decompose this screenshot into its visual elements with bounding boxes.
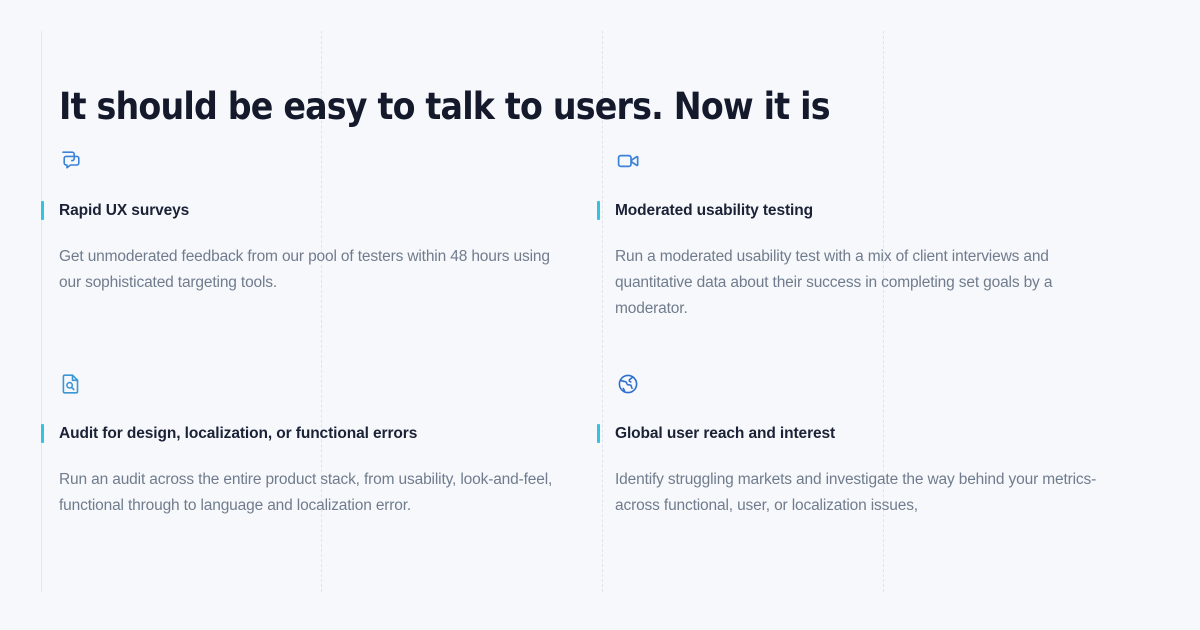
globe-icon <box>615 371 1200 397</box>
video-camera-icon <box>615 148 1200 174</box>
accent-bar <box>41 424 44 443</box>
card-description: Get unmoderated feedback from our pool o… <box>41 244 567 296</box>
card-description: Run an audit across the entire product s… <box>41 467 567 519</box>
feature-card-global-reach[interactable]: Global user reach and interest Identify … <box>597 371 1200 519</box>
card-title-row: Audit for design, localization, or funct… <box>41 423 567 444</box>
feature-card-audit[interactable]: Audit for design, localization, or funct… <box>41 371 567 519</box>
accent-bar <box>597 201 600 220</box>
card-title-row: Global user reach and interest <box>597 423 1200 444</box>
feature-grid: Rapid UX surveys Get unmoderated feedbac… <box>0 148 1200 519</box>
chat-bubbles-icon <box>59 148 567 174</box>
feature-row-2: Audit for design, localization, or funct… <box>0 371 1200 519</box>
card-description: Identify struggling markets and investig… <box>597 467 1115 519</box>
file-search-icon <box>59 371 567 397</box>
card-title: Rapid UX surveys <box>59 200 567 221</box>
card-title-row: Moderated usability testing <box>597 200 1200 221</box>
feature-cell-2: Moderated usability testing Run a modera… <box>597 148 1200 322</box>
card-title: Audit for design, localization, or funct… <box>59 423 567 444</box>
page-title: It should be easy to talk to users. Now … <box>59 85 830 128</box>
feature-cell-1: Rapid UX surveys Get unmoderated feedbac… <box>0 148 597 322</box>
feature-row-1: Rapid UX surveys Get unmoderated feedbac… <box>0 148 1200 322</box>
feature-cell-4: Global user reach and interest Identify … <box>597 371 1200 519</box>
feature-card-moderated-usability-testing[interactable]: Moderated usability testing Run a modera… <box>597 148 1200 322</box>
accent-bar <box>41 201 44 220</box>
feature-section: It should be easy to talk to users. Now … <box>0 0 1200 630</box>
feature-card-rapid-ux-surveys[interactable]: Rapid UX surveys Get unmoderated feedbac… <box>41 148 567 296</box>
card-title: Moderated usability testing <box>615 200 1200 221</box>
accent-bar <box>597 424 600 443</box>
feature-cell-3: Audit for design, localization, or funct… <box>0 371 597 519</box>
card-title: Global user reach and interest <box>615 423 1200 444</box>
card-description: Run a moderated usability test with a mi… <box>597 244 1115 322</box>
card-title-row: Rapid UX surveys <box>41 200 567 221</box>
